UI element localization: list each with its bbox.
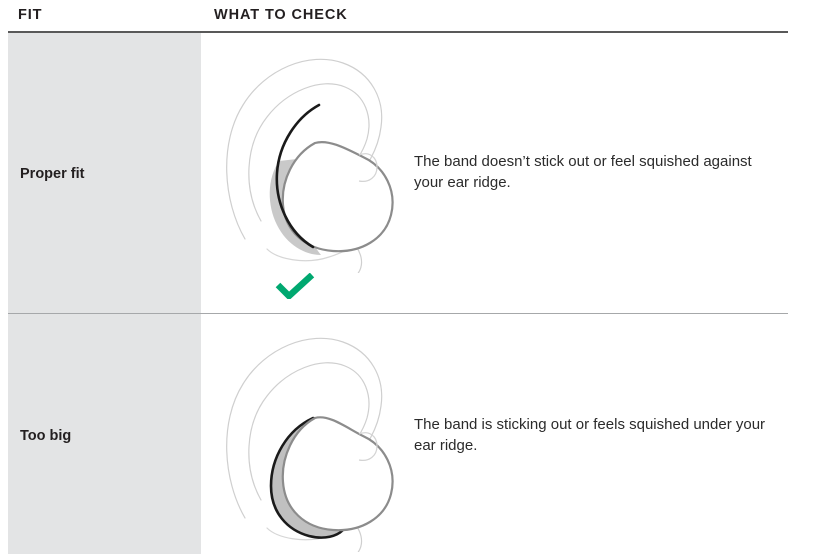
description-text: The band is sticking out or feels squish… [414, 414, 774, 457]
ear-with-earbud-too-big-diagram [209, 322, 399, 552]
description-text: The band doesn’t stick out or feel squis… [414, 151, 774, 194]
fit-label: Proper fit [20, 166, 84, 182]
table-header: FIT WHAT TO CHECK [0, 0, 814, 33]
fit-label: Too big [20, 428, 71, 444]
table-row: Proper fit [0, 33, 814, 313]
column-header-fit: FIT [18, 7, 42, 23]
fit-cell: Proper fit [8, 33, 201, 313]
status-icon-wrapper [275, 273, 315, 299]
ear-with-earbud-proper-fit-diagram [209, 43, 399, 273]
description-cell: The band doesn’t stick out or feel squis… [414, 151, 774, 194]
table-row: Too big [0, 314, 814, 554]
table-body: Proper fit [0, 33, 814, 554]
column-header-what-to-check: WHAT TO CHECK [214, 7, 348, 23]
fit-cell: Too big [8, 314, 201, 554]
illustration-cell [201, 314, 406, 554]
fit-check-table: FIT WHAT TO CHECK Proper fit [0, 0, 814, 554]
illustration-cell [201, 33, 406, 313]
description-cell: The band is sticking out or feels squish… [414, 414, 774, 457]
green-checkmark-icon [275, 273, 315, 299]
